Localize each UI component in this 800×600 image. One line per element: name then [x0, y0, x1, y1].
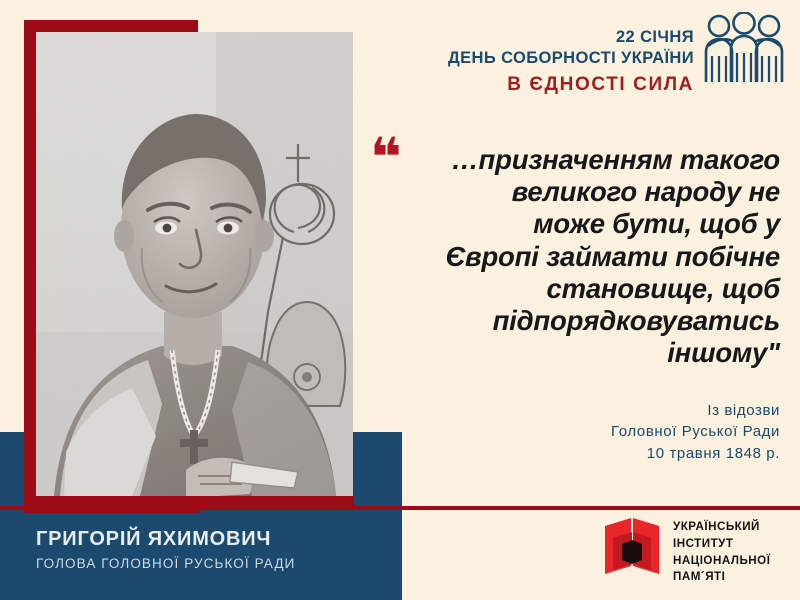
poster-canvas: 22 СІЧНЯ ДЕНЬ СОБОРНОСТІ УКРАЇНИ В ЄДНОС…: [0, 0, 800, 600]
quote-line: великого народу не: [380, 176, 780, 208]
portrait-frame-bottom-bar: [24, 496, 200, 513]
quote-line: іншому": [380, 337, 780, 369]
portrait-illustration: [36, 32, 353, 496]
quote-line: …призначенням такого: [380, 144, 780, 176]
horizontal-red-divider: [0, 506, 800, 510]
person-name: ГРИГОРІЙ ЯХИМОВИЧ: [36, 528, 295, 551]
uinp-logo[interactable]: УКРАЇНСЬКИЙ ІНСТИТУТ НАЦІОНАЛЬНОЇ ПАМ´ЯТ…: [603, 518, 770, 587]
attribution-line: Із відозви: [360, 400, 780, 421]
portrait-photo: [36, 32, 353, 496]
quote-line: Європі займати побічне: [380, 241, 780, 273]
quote-line: підпорядковуватись: [380, 305, 780, 337]
logo-text-line: ПАМ´ЯТІ: [673, 569, 770, 586]
attribution-line: 10 травня 1848 р.: [360, 443, 780, 464]
logo-text-line: ІНСТИТУТ: [673, 536, 770, 553]
event-header: 22 СІЧНЯ ДЕНЬ СОБОРНОСТІ УКРАЇНИ В ЄДНОС…: [448, 28, 694, 96]
quote-line: може бути, щоб у: [380, 208, 780, 240]
quote-text: …призначенням такого великого народу не …: [380, 144, 780, 369]
event-title: ДЕНЬ СОБОРНОСТІ УКРАЇНИ: [448, 49, 694, 68]
three-people-icon: [700, 12, 788, 89]
quote-attribution: Із відозви Головної Руської Ради 10 трав…: [360, 400, 780, 464]
quote-line: становище, щоб: [380, 273, 780, 305]
attribution-line: Головної Руської Ради: [360, 421, 780, 442]
event-slogan: В ЄДНОСТІ СИЛА: [448, 74, 694, 96]
person-caption: ГРИГОРІЙ ЯХИМОВИЧ ГОЛОВА ГОЛОВНОЇ РУСЬКО…: [36, 528, 295, 571]
uinp-logo-mark-icon: [603, 518, 661, 587]
uinp-logo-text: УКРАЇНСЬКИЙ ІНСТИТУТ НАЦІОНАЛЬНОЇ ПАМ´ЯТ…: [673, 519, 770, 586]
logo-text-line: УКРАЇНСЬКИЙ: [673, 519, 770, 536]
person-role: ГОЛОВА ГОЛОВНОЇ РУСЬКОЇ РАДИ: [36, 556, 295, 571]
event-date: 22 СІЧНЯ: [448, 28, 694, 47]
logo-text-line: НАЦІОНАЛЬНОЇ: [673, 553, 770, 570]
